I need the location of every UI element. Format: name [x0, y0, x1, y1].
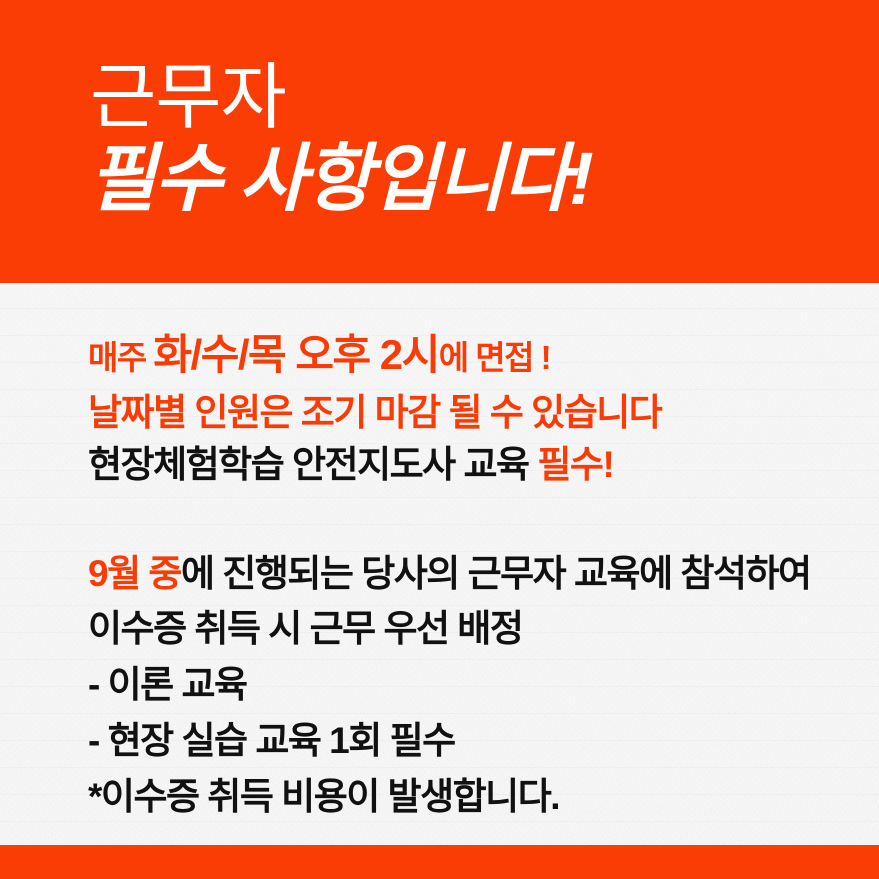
interview-days-time: 화/수/목 오후 2시: [153, 331, 438, 378]
poster-canvas: 근무자 필수 사항입니다! 매주 화/수/목 오후 2시에 면접 ! 날짜별 인…: [0, 0, 879, 879]
body-line-interview-schedule: 매주 화/수/목 오후 2시에 면접 !: [88, 334, 550, 376]
body-line-september-training: 9월 중에 진행되는 당사의 근무자 교육에 참석하여: [88, 555, 811, 592]
footer-band: [0, 845, 879, 879]
safety-training-text: 현장체험학습 안전지도사 교육: [88, 444, 537, 485]
body-line-priority-assignment: 이수증 취득 시 근무 우선 배정: [88, 610, 522, 647]
header-band: 근무자 필수 사항입니다!: [0, 0, 879, 283]
body-line-capacity-notice: 날짜별 인원은 조기 마감 될 수 있습니다: [88, 394, 661, 431]
body-line-field-practice: - 현장 실습 교육 1회 필수: [88, 722, 455, 759]
page-title-line1: 근무자: [90, 62, 286, 134]
body-line-theory-training: - 이론 교육: [88, 666, 247, 703]
body-line-cost-disclaimer: *이수증 취득 비용이 발생합니다.: [88, 778, 559, 815]
interview-suffix: 에 면접 !: [439, 339, 550, 376]
safety-training-required-badge: 필수!: [537, 444, 613, 485]
body-line-safety-training: 현장체험학습 안전지도사 교육 필수!: [88, 446, 613, 483]
body-content: 매주 화/수/목 오후 2시에 면접 ! 날짜별 인원은 조기 마감 될 수 있…: [0, 283, 879, 845]
september-training-text: 에 진행되는 당사의 근무자 교육에 참석하여: [181, 553, 811, 594]
interview-prefix: 매주: [88, 339, 153, 376]
september-highlight: 9월 중: [88, 553, 181, 594]
page-title-line2: 필수 사항입니다!: [88, 142, 592, 216]
